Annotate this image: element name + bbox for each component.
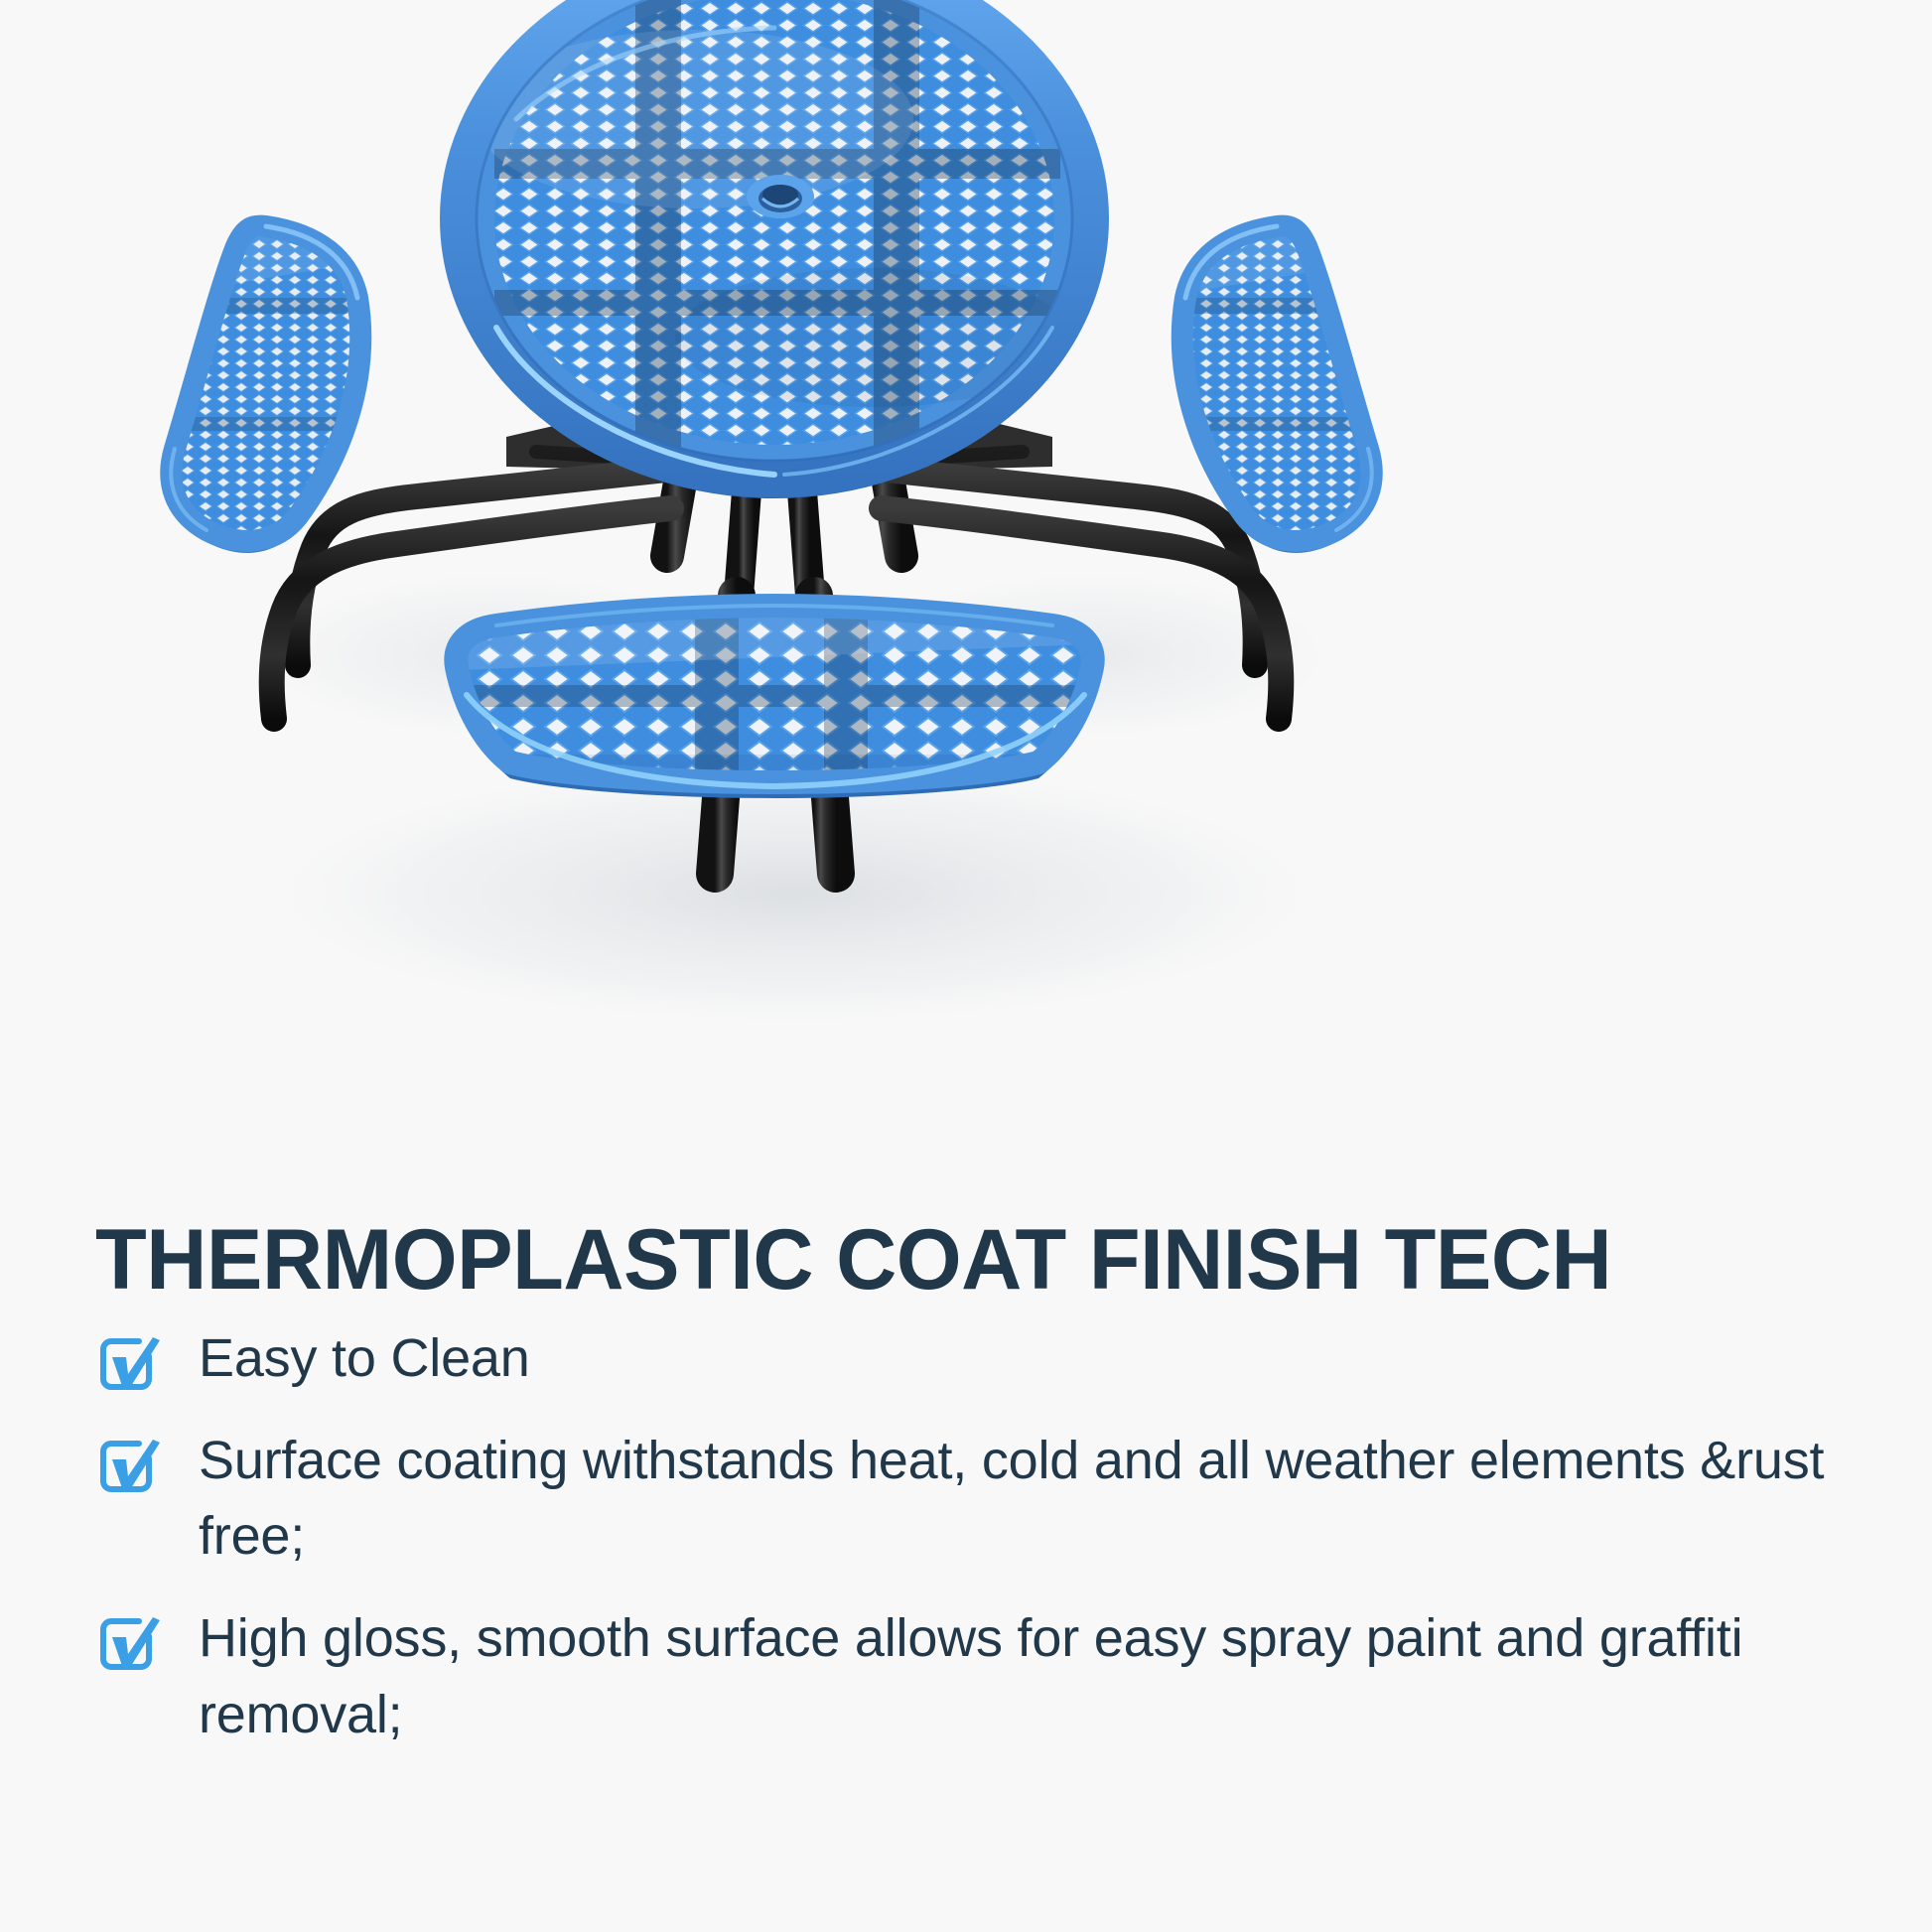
product-feature-page: THERMOPLASTIC COAT FINISH TECH Easy to C… <box>0 0 1932 1932</box>
checkbox-checked-icon <box>95 1429 165 1498</box>
center-umbrella-hole <box>747 175 814 218</box>
feature-text: High gloss, smooth surface allows for ea… <box>199 1600 1882 1752</box>
feature-list: Easy to Clean Surface coating withstands… <box>95 1320 1882 1778</box>
feature-text: Easy to Clean <box>199 1320 1882 1397</box>
product-illustration <box>0 0 1932 1152</box>
feature-item: Easy to Clean <box>95 1320 1882 1397</box>
front-bench-seat <box>437 596 1112 806</box>
product-image <box>0 0 1932 1152</box>
feature-text: Surface coating withstands heat, cold an… <box>199 1423 1882 1575</box>
feature-item: High gloss, smooth surface allows for ea… <box>95 1600 1882 1752</box>
feature-item: Surface coating withstands heat, cold an… <box>95 1423 1882 1575</box>
checkbox-checked-icon <box>95 1326 165 1396</box>
checkbox-checked-icon <box>95 1606 165 1676</box>
round-mesh-tabletop <box>457 0 1092 498</box>
page-title: THERMOPLASTIC COAT FINISH TECH <box>95 1217 1894 1303</box>
